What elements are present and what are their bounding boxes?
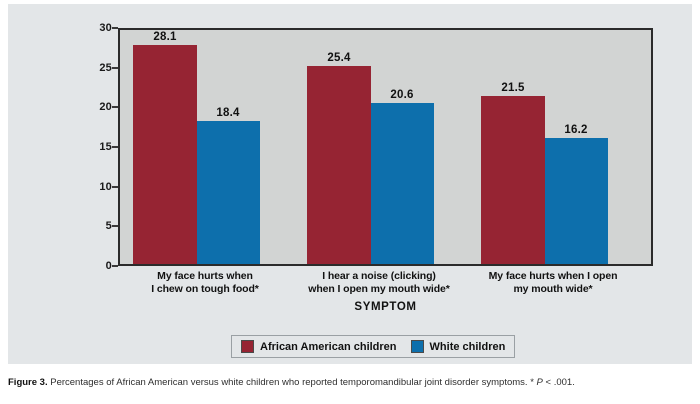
legend-swatch-blue-icon [411, 340, 424, 353]
category-label-1-line1: My face hurts when [110, 270, 300, 283]
plot-area: 28.1 18.4 25.4 20.6 21.5 16.2 [118, 28, 653, 266]
category-label-2-line1: I hear a noise (clicking) [284, 270, 474, 283]
legend-item-white[interactable]: White children [411, 340, 506, 353]
y-axis: 30 25 20 15 10 5 0 PERCENTAGE [94, 28, 118, 266]
figure-caption-text: Percentages of African American versus w… [48, 377, 537, 388]
value-label-white-3: 16.2 [546, 124, 606, 136]
bar-african-american-1[interactable] [133, 45, 197, 264]
legend-item-african-american[interactable]: African American children [241, 340, 397, 353]
category-label-2: I hear a noise (clicking) when I open my… [284, 270, 474, 296]
figure-caption-stat-value: < .001. [543, 377, 575, 388]
category-label-3-line1: My face hurts when I open [458, 270, 648, 283]
figure-panel: 30 25 20 15 10 5 0 PERCENTAGE 28.1 18 [8, 4, 692, 364]
figure-3: 30 25 20 15 10 5 0 PERCENTAGE 28.1 18 [0, 0, 700, 404]
category-label-2-line2: when I open my mouth wide* [284, 283, 474, 296]
category-label-1: My face hurts when I chew on tough food* [110, 270, 300, 296]
y-tick-label-30: 30 [99, 22, 112, 34]
category-label-3: My face hurts when I open my mouth wide* [458, 270, 648, 296]
value-label-white-2: 20.6 [372, 89, 432, 101]
bar-group-3: 21.5 16.2 [481, 30, 609, 264]
bar-african-american-3[interactable] [481, 96, 545, 264]
bar-white-2[interactable] [371, 103, 434, 264]
chart-legend: African American children White children [231, 335, 515, 358]
value-label-african-american-3: 21.5 [483, 82, 543, 94]
value-label-african-american-1: 28.1 [135, 31, 195, 43]
bar-white-3[interactable] [545, 138, 608, 264]
y-tick-label-15: 15 [99, 141, 112, 153]
y-tick-label-20: 20 [99, 101, 112, 113]
legend-label-white: White children [430, 341, 506, 353]
figure-caption-number: Figure 3. [8, 377, 48, 388]
bar-group-1: 28.1 18.4 [133, 30, 261, 264]
legend-label-african-american: African American children [260, 341, 397, 353]
legend-swatch-red-icon [241, 340, 254, 353]
value-label-white-1: 18.4 [198, 107, 258, 119]
x-axis-title: SYMPTOM [118, 301, 653, 313]
y-tick-label-25: 25 [99, 62, 112, 74]
category-label-3-line2: my mouth wide* [458, 283, 648, 296]
category-label-1-line2: I chew on tough food* [110, 283, 300, 296]
y-tick-label-10: 10 [99, 181, 112, 193]
bar-group-2: 25.4 20.6 [307, 30, 435, 264]
bar-white-1[interactable] [197, 121, 260, 265]
bar-african-american-2[interactable] [307, 66, 371, 264]
value-label-african-american-2: 25.4 [309, 52, 369, 64]
figure-caption: Figure 3. Percentages of African America… [8, 376, 692, 389]
